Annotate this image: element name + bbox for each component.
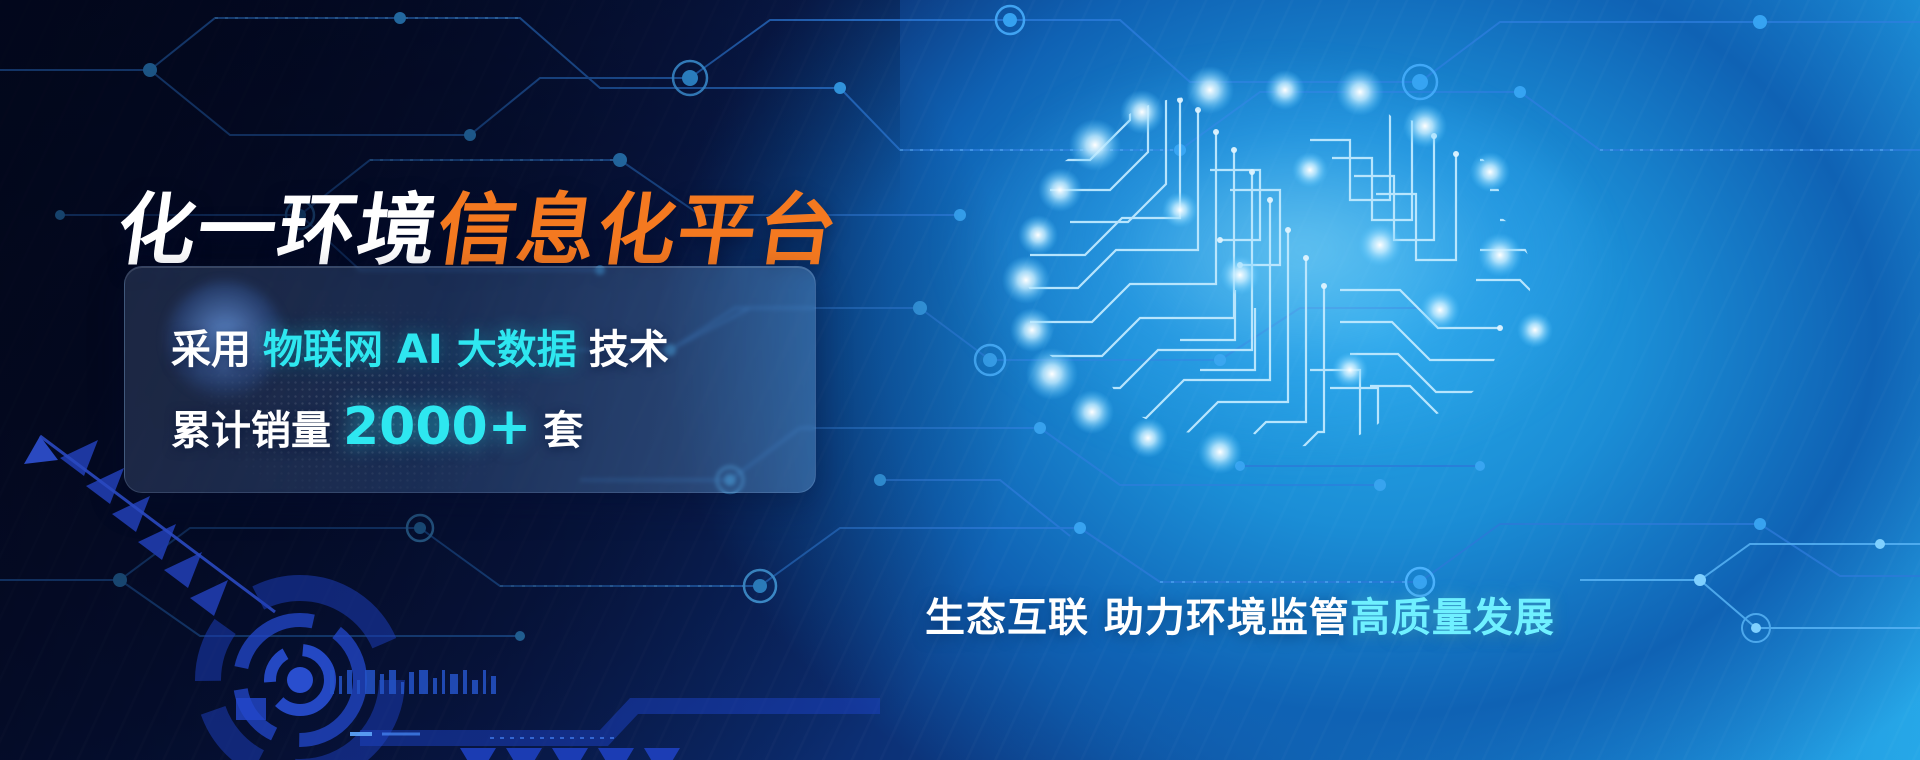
sales-prefix: 累计销量 bbox=[171, 408, 331, 454]
panel-dot-texture bbox=[145, 267, 795, 492]
radar-rings bbox=[208, 588, 392, 760]
tagline-white-part: 生态互联 助力环境监管 bbox=[925, 595, 1350, 641]
hud-bracket bbox=[350, 698, 900, 760]
page-title: 化一环境信息化平台 bbox=[113, 192, 844, 270]
sales-suffix: 套 bbox=[543, 408, 583, 454]
feature-glass-panel: 采用物联网 AI 大数据技术 累计销量2000+套 bbox=[124, 266, 816, 493]
title-white-part: 化一环境 bbox=[112, 186, 445, 276]
panel-line-technology: 采用物联网 AI 大数据技术 bbox=[171, 317, 669, 375]
tech-suffix: 技术 bbox=[589, 327, 669, 373]
panel-line-sales: 累计销量2000+套 bbox=[171, 397, 583, 457]
tagline-accent-nodes bbox=[1580, 520, 1920, 700]
tagline: 生态互联 助力环境监管高质量发展 bbox=[925, 585, 1555, 643]
barcode-decoration bbox=[330, 668, 496, 694]
tech-prefix: 采用 bbox=[171, 327, 251, 373]
circuit-brain-illustration bbox=[880, 40, 1660, 490]
tech-highlight: 物联网 AI 大数据 bbox=[263, 327, 577, 373]
sales-number: 2000+ bbox=[343, 397, 531, 457]
brain-circuit-svg bbox=[880, 40, 1660, 490]
tagline-cyan-part: 高质量发展 bbox=[1350, 595, 1555, 641]
hero-banner: 化一环境信息化平台 采用物联网 AI 大数据技术 累计销量2000+套 生态互联… bbox=[0, 0, 1920, 760]
title-orange-part: 信息化平台 bbox=[432, 186, 845, 276]
